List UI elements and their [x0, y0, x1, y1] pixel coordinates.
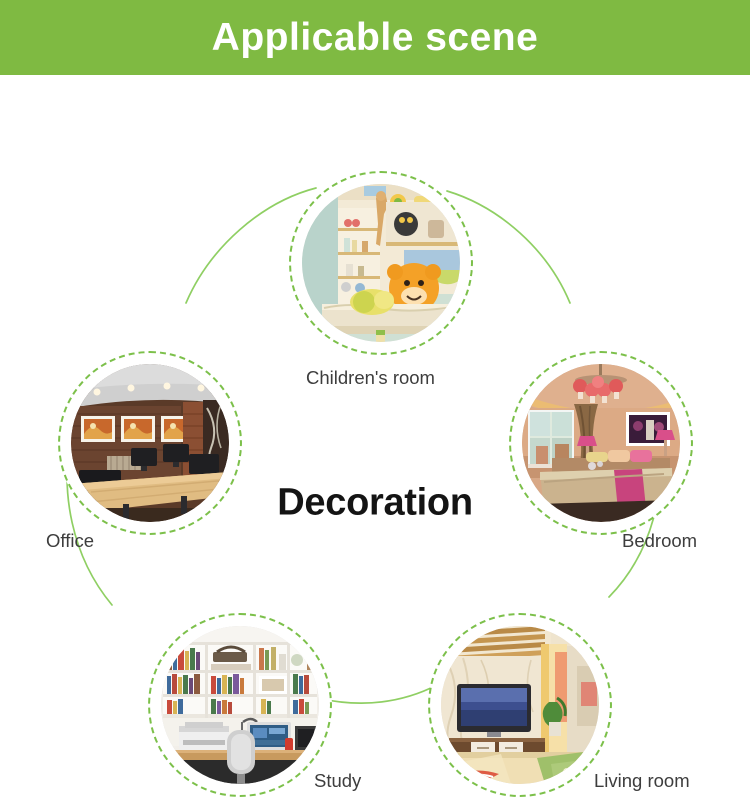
node-study[interactable]	[148, 613, 332, 797]
living-room-photo[interactable]	[441, 626, 599, 784]
label-office: Office	[46, 531, 94, 551]
center-title: Decoration	[277, 482, 472, 525]
study-photo[interactable]	[161, 626, 319, 784]
node-living-room[interactable]	[428, 613, 612, 797]
node-office[interactable]	[58, 351, 242, 535]
label-study: Study	[314, 771, 361, 791]
header-banner: Applicable scene	[0, 0, 750, 75]
label-bedroom: Bedroom	[622, 531, 697, 551]
bedroom-photo[interactable]	[522, 364, 680, 522]
label-living-room: Living room	[594, 771, 690, 791]
office-photo[interactable]	[71, 364, 229, 522]
diagram-stage: Children's room Bedroom Living room Stud…	[0, 75, 750, 750]
node-bedroom[interactable]	[509, 351, 693, 535]
childrens-room-photo[interactable]	[302, 184, 460, 342]
node-childrens-room[interactable]	[289, 171, 473, 355]
page-title: Applicable scene	[212, 18, 539, 57]
label-childrens-room: Children's room	[306, 368, 435, 388]
